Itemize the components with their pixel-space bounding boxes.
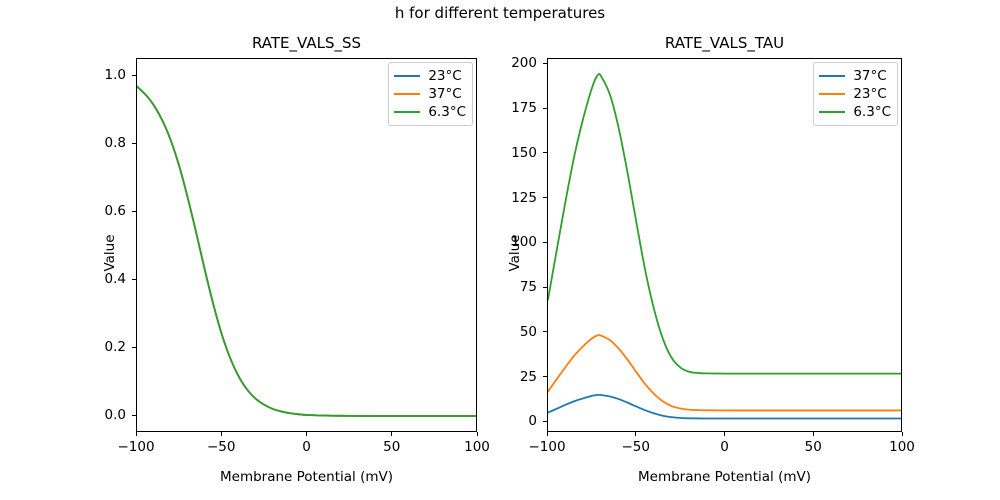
legend-ss[interactable]: 23°C37°C6.3°C	[388, 62, 473, 126]
legend-color-swatch	[394, 111, 420, 113]
x-tick-mark	[547, 432, 548, 436]
legend-item[interactable]: 23°C	[394, 67, 466, 85]
legend-color-swatch	[819, 93, 845, 95]
x-tick-label: 100	[464, 439, 490, 455]
x-tick-label: 100	[889, 439, 915, 455]
y-tick-label: 200	[469, 55, 537, 71]
x-tick-mark	[902, 432, 903, 436]
x-tick-label: −50	[207, 439, 236, 455]
y-tick-mark	[543, 421, 547, 422]
legend-color-swatch	[819, 111, 845, 113]
x-tick-mark	[306, 432, 307, 436]
y-tick-mark	[132, 211, 136, 212]
legend-item[interactable]: 6.3°C	[394, 103, 466, 121]
x-tick-mark	[136, 432, 137, 436]
legend-label: 37°C	[428, 86, 461, 102]
x-tick-label: −100	[528, 439, 565, 455]
legend-color-swatch	[394, 75, 420, 77]
x-axis-label-tau: Membrane Potential (mV)	[547, 469, 902, 485]
series-line-37c	[137, 87, 477, 416]
legend-tau[interactable]: 37°C23°C6.3°C	[813, 62, 898, 126]
x-tick-mark	[724, 432, 725, 436]
x-tick-mark	[477, 432, 478, 436]
x-tick-mark	[391, 432, 392, 436]
series-line-23c	[137, 87, 477, 416]
x-tick-label: 50	[383, 439, 400, 455]
figure-suptitle: h for different temperatures	[0, 4, 1000, 22]
x-axis-label-ss: Membrane Potential (mV)	[136, 469, 477, 485]
y-tick-mark	[543, 287, 547, 288]
legend-item[interactable]: 6.3°C	[819, 103, 891, 121]
x-tick-label: 50	[805, 439, 822, 455]
y-tick-mark	[543, 197, 547, 198]
legend-item[interactable]: 23°C	[819, 85, 891, 103]
y-tick-label: 0.0	[58, 407, 126, 423]
subplot-rate-vals-ss: RATE_VALS_SS 0.00.20.40.60.81.0−100−5005…	[136, 58, 477, 432]
matplotlib-figure: h for different temperatures RATE_VALS_S…	[0, 0, 1000, 500]
y-tick-label: 150	[469, 145, 537, 161]
y-tick-mark	[543, 376, 547, 377]
y-tick-label: 25	[469, 369, 537, 385]
y-tick-mark	[543, 331, 547, 332]
y-tick-label: 175	[469, 100, 537, 116]
legend-color-swatch	[819, 75, 845, 77]
y-axis-label-ss: Value	[102, 193, 118, 313]
legend-label: 37°C	[853, 68, 886, 84]
y-tick-mark	[543, 152, 547, 153]
y-tick-mark	[132, 347, 136, 348]
y-tick-label: 0.2	[58, 339, 126, 355]
y-tick-mark	[132, 279, 136, 280]
y-tick-label: 1.0	[58, 67, 126, 83]
subplot-title-tau: RATE_VALS_TAU	[547, 34, 902, 52]
legend-item[interactable]: 37°C	[394, 85, 466, 103]
subplot-title-ss: RATE_VALS_SS	[136, 34, 477, 52]
legend-label: 6.3°C	[428, 104, 466, 120]
y-tick-label: 100	[469, 234, 537, 250]
x-tick-label: −100	[117, 439, 154, 455]
x-tick-mark	[221, 432, 222, 436]
y-tick-label: 0	[469, 413, 537, 429]
x-tick-label: 0	[302, 439, 311, 455]
y-tick-label: 125	[469, 190, 537, 206]
y-tick-mark	[132, 415, 136, 416]
y-tick-label: 0.8	[58, 135, 126, 151]
series-line-37c	[548, 395, 902, 419]
y-tick-label: 75	[469, 279, 537, 295]
y-tick-label: 50	[469, 324, 537, 340]
legend-label: 23°C	[428, 68, 461, 84]
y-tick-mark	[132, 143, 136, 144]
x-tick-mark	[635, 432, 636, 436]
x-tick-label: −50	[622, 439, 651, 455]
x-tick-label: 0	[720, 439, 729, 455]
legend-item[interactable]: 37°C	[819, 67, 891, 85]
y-axis-label-tau: Value	[507, 193, 523, 313]
y-tick-mark	[543, 108, 547, 109]
y-tick-mark	[132, 75, 136, 76]
y-tick-mark	[543, 63, 547, 64]
legend-label: 6.3°C	[853, 104, 891, 120]
series-line-6.3c	[137, 87, 477, 416]
legend-color-swatch	[394, 93, 420, 95]
legend-label: 23°C	[853, 86, 886, 102]
x-tick-mark	[813, 432, 814, 436]
y-tick-mark	[543, 242, 547, 243]
subplot-rate-vals-tau: RATE_VALS_TAU 0255075100125150175200−100…	[547, 58, 902, 432]
